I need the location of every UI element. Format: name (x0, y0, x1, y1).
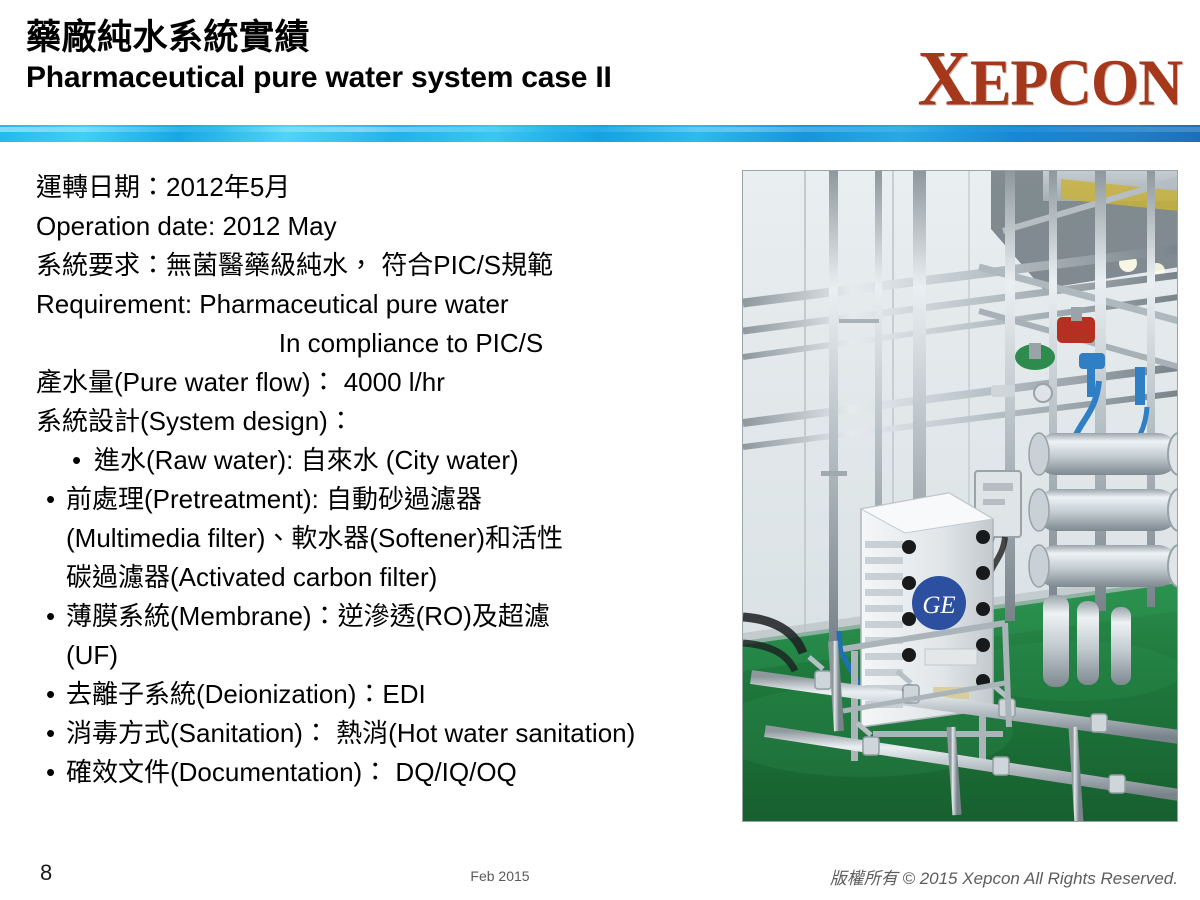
blue-divider-bar (0, 125, 1200, 142)
text-line-operation-date-en: Operation date: 2012 May (36, 207, 726, 246)
page-title-english: Pharmaceutical pure water system case II (26, 61, 806, 96)
ge-logo-text: GE (922, 592, 955, 619)
bullet-dot-icon: • (46, 714, 55, 753)
text-line-requirement-en-2: In compliance to PIC/S (36, 324, 726, 363)
bullet-label-deionization: 去離子系統(Deionization)：EDI (66, 679, 426, 709)
equipment-photo: GE (742, 170, 1178, 822)
xepcon-logo: XEPCON (872, 46, 1182, 112)
logo-wordmark: XEPCON (918, 40, 1182, 118)
text-line-requirement-en: Requirement: Pharmaceutical pure water (36, 285, 726, 324)
text-line-system-design: 系統設計(System design)： (36, 402, 726, 441)
content-body: 運轉日期：2012年5月 Operation date: 2012 May 系統… (36, 168, 726, 792)
bullet-dot-icon: • (46, 597, 55, 636)
slide: 藥廠純水系統實績 Pharmaceutical pure water syste… (0, 0, 1200, 900)
bullet-label-raw-water: 進水(Raw water): 自來水 (City water) (94, 445, 519, 475)
bullet-item-raw-water: • 進水(Raw water): 自來水 (City water) (36, 441, 726, 480)
logo-initial: X (918, 36, 970, 123)
bullet-item-sanitation: • 消毒方式(Sanitation)： 熱消(Hot water sanitat… (36, 714, 726, 753)
bullet-dot-icon: • (46, 480, 55, 519)
bullet-dot-icon: • (72, 441, 81, 480)
bullet-label-sanitation: 消毒方式(Sanitation)： 熱消(Hot water sanitatio… (66, 718, 635, 748)
bullet-label-membrane: 薄膜系統(Membrane)：逆滲透(RO)及超濾 (66, 601, 550, 631)
text-line-flow-rate: 產水量(Pure water flow)： 4000 l/hr (36, 363, 726, 402)
bullet-continuation-membrane-1: (UF) (36, 636, 726, 675)
footer-copyright: 版權所有 © 2015 Xepcon All Rights Reserved. (830, 864, 1178, 889)
bullet-label-pretreatment: 前處理(Pretreatment): 自動砂過濾器 (66, 484, 482, 514)
bullet-continuation-pretreatment-1: (Multimedia filter)、軟水器(Softener)和活性 (36, 519, 726, 558)
bullet-dot-icon: • (46, 753, 55, 792)
bullet-continuation-pretreatment-2: 碳過濾器(Activated carbon filter) (36, 558, 726, 597)
text-line-requirement-cn: 系統要求：無菌醫藥級純水， 符合PIC/S規範 (36, 246, 726, 285)
equipment-photo-illustration: GE (743, 171, 1178, 822)
bullet-item-pretreatment: • 前處理(Pretreatment): 自動砂過濾器 (36, 480, 726, 519)
logo-remainder: EPCON (970, 47, 1182, 119)
title-block: 藥廠純水系統實績 Pharmaceutical pure water syste… (26, 18, 806, 96)
bullet-item-deionization: • 去離子系統(Deionization)：EDI (36, 675, 726, 714)
bullet-item-documentation: • 確效文件(Documentation)： DQ/IQ/OQ (36, 753, 726, 792)
bullet-label-documentation: 確效文件(Documentation)： DQ/IQ/OQ (66, 757, 517, 787)
slide-footer: 8 Feb 2015 版權所有 © 2015 Xepcon All Rights… (0, 852, 1200, 900)
text-line-operation-date-cn: 運轉日期：2012年5月 (36, 168, 726, 207)
page-title-chinese: 藥廠純水系統實績 (26, 18, 806, 57)
bullet-item-membrane: • 薄膜系統(Membrane)：逆滲透(RO)及超濾 (36, 597, 726, 636)
slide-header: 藥廠純水系統實績 Pharmaceutical pure water syste… (0, 0, 1200, 122)
bullet-dot-icon: • (46, 675, 55, 714)
